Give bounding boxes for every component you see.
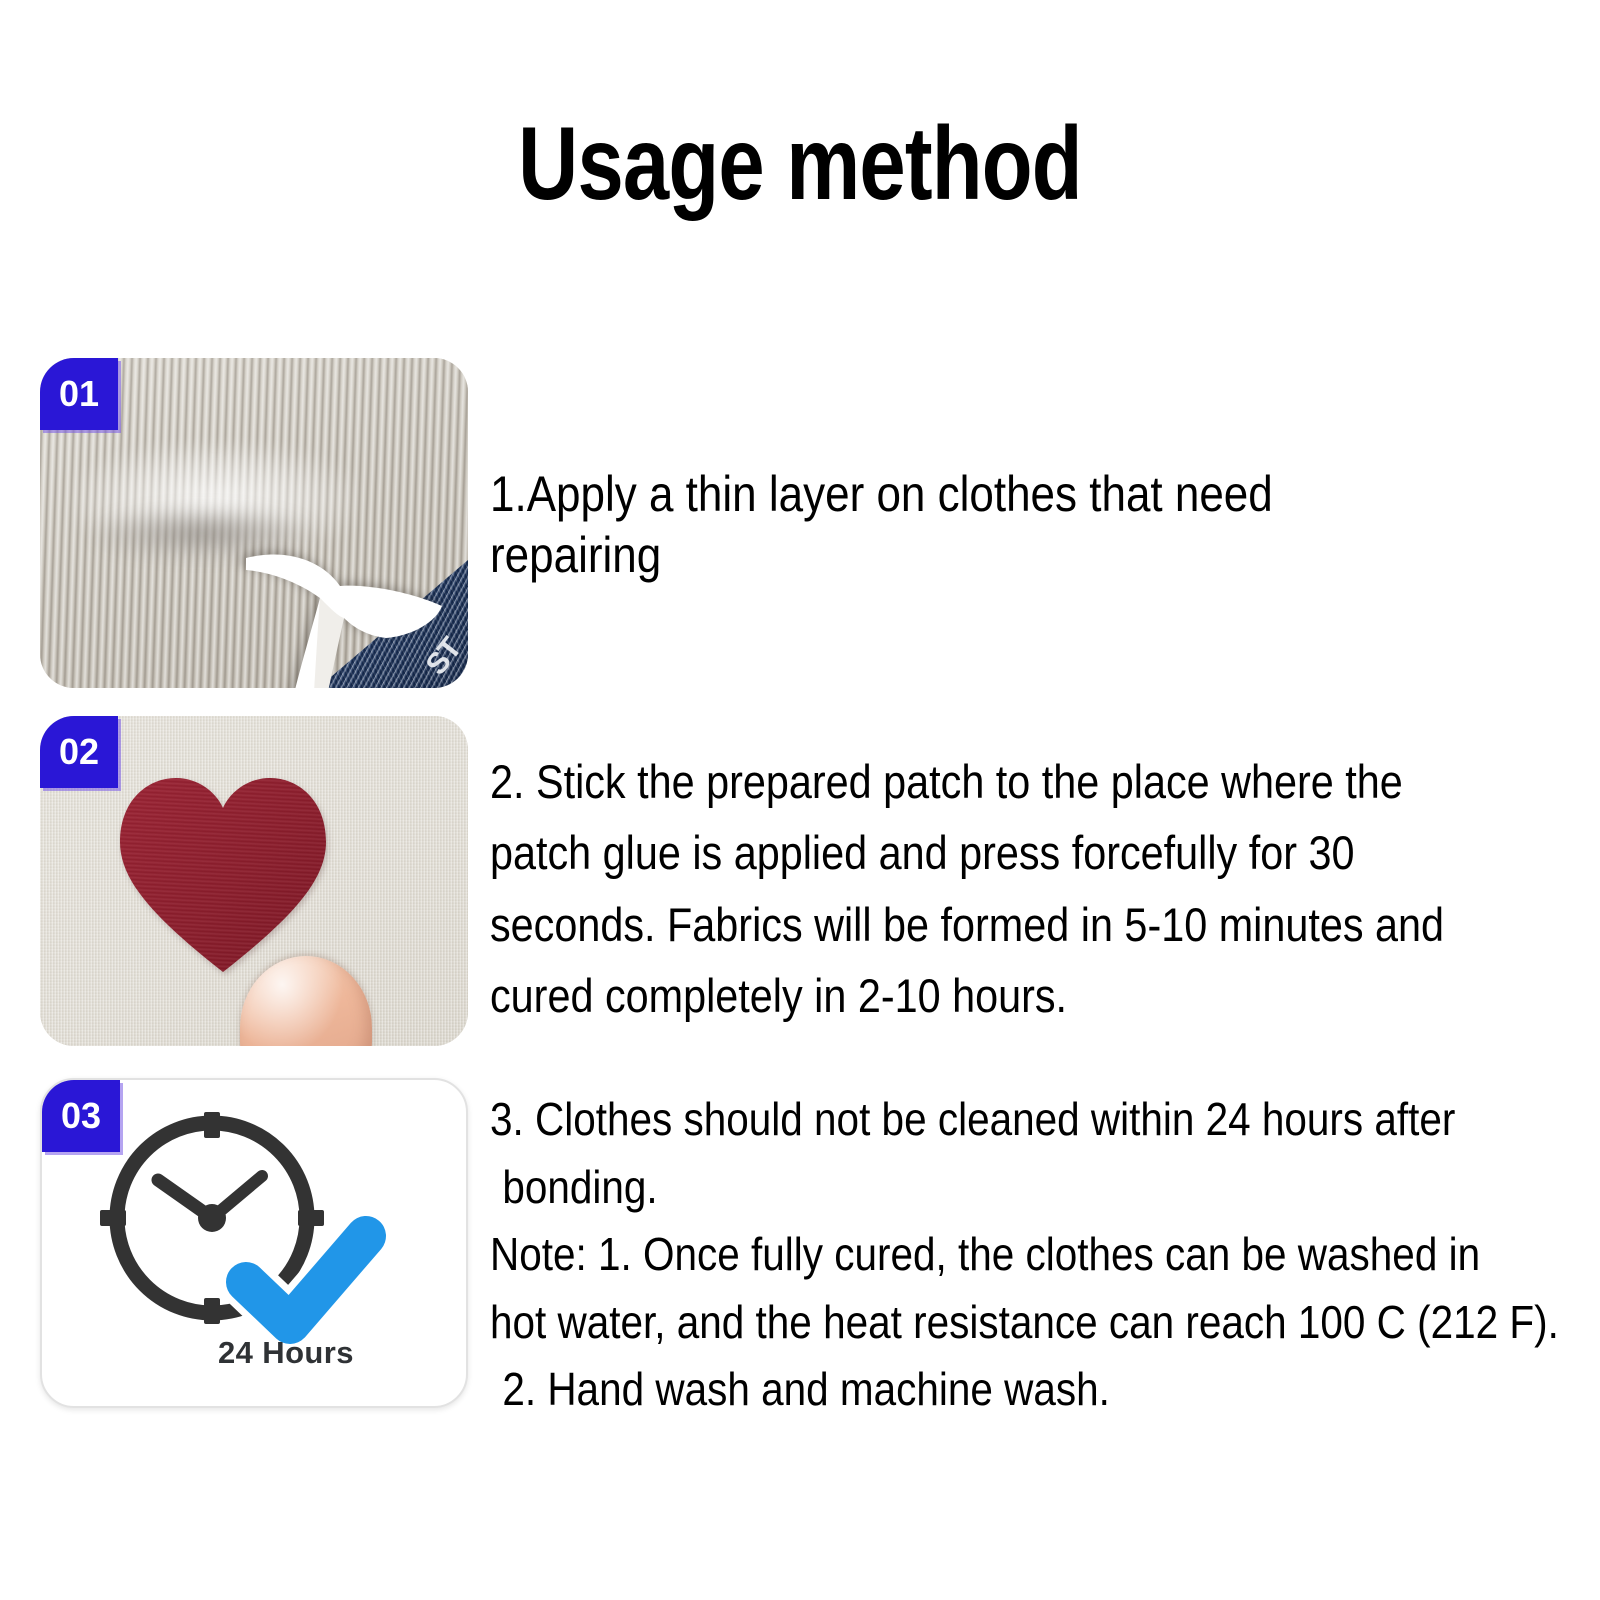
page-title: Usage method bbox=[160, 108, 1440, 220]
clock-caption: 24 Hours bbox=[218, 1335, 438, 1371]
step-row-2: 02 2. Stick the prepared patch to the pl… bbox=[0, 716, 1600, 1078]
red-heart-patch bbox=[118, 772, 328, 977]
usage-method-page: Usage method ST 01 1. bbox=[0, 0, 1600, 1600]
step-3-text: 3. Clothes should not be cleaned within … bbox=[490, 1086, 1432, 1424]
step-3-image-wrap: 24 Hours 03 bbox=[40, 1078, 468, 1408]
step-3-note-line-2: hot water, and the heat resistance can r… bbox=[490, 1289, 1432, 1357]
step-1-line-2: repairing bbox=[490, 525, 1432, 586]
step-2-line-3: seconds. Fabrics will be formed in 5-10 … bbox=[490, 889, 1432, 960]
step-badge-03: 03 bbox=[42, 1080, 120, 1152]
step-1-image-wrap: ST 01 bbox=[40, 358, 468, 688]
step-3-line-1: 3. Clothes should not be cleaned within … bbox=[490, 1086, 1432, 1154]
step-row-1: ST 01 1.Apply a thin layer on clothes th… bbox=[0, 358, 1600, 716]
step-3-line-2: bonding. bbox=[490, 1154, 1432, 1222]
step-3-icon-panel: 24 Hours 03 bbox=[40, 1078, 468, 1408]
steps-list: ST 01 1.Apply a thin layer on clothes th… bbox=[0, 358, 1600, 1418]
glue-applicator-nozzle bbox=[236, 532, 446, 688]
step-1-line-1: 1.Apply a thin layer on clothes that nee… bbox=[490, 464, 1432, 525]
step-2-line-1: 2. Stick the prepared patch to the place… bbox=[490, 746, 1432, 817]
step-2-line-2: patch glue is applied and press forceful… bbox=[490, 817, 1432, 888]
step-2-text: 2. Stick the prepared patch to the place… bbox=[490, 746, 1432, 1032]
step-row-3: 24 Hours 03 3. Clothes should not be cle… bbox=[0, 1078, 1600, 1418]
step-1-text: 1.Apply a thin layer on clothes that nee… bbox=[490, 464, 1432, 586]
clock-icon bbox=[94, 1106, 394, 1356]
step-2-photo-panel: 02 bbox=[40, 716, 468, 1046]
step-3-note-line-1: Note: 1. Once fully cured, the clothes c… bbox=[490, 1221, 1432, 1289]
step-1-photo-panel: ST 01 bbox=[40, 358, 468, 688]
step-badge-01: 01 bbox=[40, 358, 118, 430]
step-2-image-wrap: 02 bbox=[40, 716, 468, 1046]
step-2-line-4: cured completely in 2-10 hours. bbox=[490, 960, 1432, 1031]
step-badge-02: 02 bbox=[40, 716, 118, 788]
step-3-note-line-3: 2. Hand wash and machine wash. bbox=[490, 1356, 1432, 1424]
